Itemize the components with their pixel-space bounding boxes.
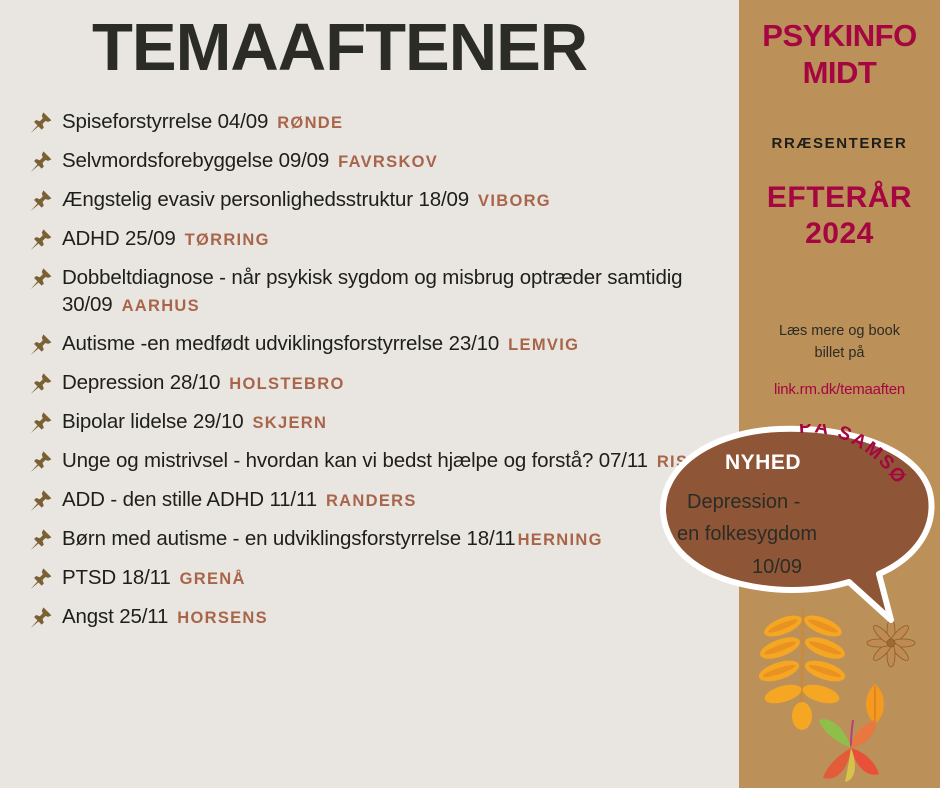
event-city: HOLSTEBRO [229,375,344,393]
event-title: Unge og mistrivsel - hvordan kan vi beds… [62,447,740,474]
event-city: LEMVIG [508,336,579,354]
event-city: GRENÅ [180,570,246,588]
pushpin-icon [28,488,54,514]
news-line-3: 10/09 [667,551,913,583]
event-row: PTSD 18/11GRENÅ [28,564,744,592]
event-city: SKJERN [252,414,327,432]
booking-link[interactable]: link.rm.dk/temaaften [739,381,940,398]
news-badge: NYHED [725,451,801,475]
event-row: Selvmordsforebyggelse 09/09FAVRSKOV [28,147,744,175]
pushpin-icon [28,266,54,292]
page-title: TEMAAFTENER [92,14,587,81]
event-row: ADD - den stille ADHD 11/11RANDERS [28,486,744,514]
event-city: RANDERS [326,492,417,510]
event-title: Ængstelig evasiv personlighedsstruktur 1… [62,186,551,213]
sidebar-panel: PSYKINFO MIDT RRÆSENTERER EFTERÅR 2024 L… [739,0,940,788]
event-title: Dobbeltdiagnose - når psykisk sygdom og … [62,264,744,319]
season-block: EFTERÅR 2024 [739,180,940,252]
event-city: HORSENS [177,609,268,627]
brand-line-2: MIDT [739,55,940,92]
event-row: Bipolar lidelse 29/10SKJERN [28,408,744,436]
event-title: ADD - den stille ADHD 11/11RANDERS [62,486,417,513]
event-city: VIBORG [478,192,551,210]
event-title: Børn med autisme - en udviklingsforstyrr… [62,525,603,552]
event-title: Angst 25/11HORSENS [62,603,268,630]
season-line-2: 2024 [739,216,940,252]
event-row: ADHD 25/09TØRRING [28,225,744,253]
poster-canvas: TEMAAFTENER Spiseforstyrrelse 04/09RØNDE… [0,0,940,788]
pushpin-icon [28,227,54,253]
event-title: Selvmordsforebyggelse 09/09FAVRSKOV [62,147,438,174]
event-city: TØRRING [185,231,270,249]
pushpin-icon [28,566,54,592]
event-title: Autisme -en medfødt udviklingsforstyrrel… [62,330,579,357]
pushpin-icon [28,371,54,397]
event-title: PTSD 18/11GRENÅ [62,564,246,591]
news-speech-bubble: NYHED Depression - en folkesygdom 10/09 … [653,424,940,644]
pushpin-icon [28,188,54,214]
news-line-2: en folkesygdom [667,518,913,550]
event-row: Depression 28/10HOLSTEBRO [28,369,744,397]
event-list: Spiseforstyrrelse 04/09RØNDESelvmordsfor… [28,108,744,642]
event-row: Unge og mistrivsel - hvordan kan vi beds… [28,447,744,475]
event-row: Angst 25/11HORSENS [28,603,744,631]
pushpin-icon [28,149,54,175]
pushpin-icon [28,332,54,358]
news-bubble-text: Depression - en folkesygdom 10/09 [667,486,913,583]
season-line-1: EFTERÅR [739,180,940,216]
event-row: Autisme -en medfødt udviklingsforstyrrel… [28,330,744,358]
event-city: FAVRSKOV [338,153,438,171]
pushpin-icon [28,527,54,553]
event-title: Spiseforstyrrelse 04/09RØNDE [62,108,343,135]
event-city: RØNDE [277,114,343,132]
event-row: Børn med autisme - en udviklingsforstyrr… [28,525,744,553]
brand-line-1: PSYKINFO [739,18,940,55]
event-title: Depression 28/10HOLSTEBRO [62,369,345,396]
presenter-label: RRÆSENTERER [739,135,940,152]
event-city: AARHUS [122,297,200,315]
pushpin-icon [28,449,54,475]
booking-note: Læs mere og book billet på [739,320,940,365]
event-row: Spiseforstyrrelse 04/09RØNDE [28,108,744,136]
pushpin-icon [28,410,54,436]
brand-block: PSYKINFO MIDT [739,18,940,91]
event-city: HERNING [518,531,603,549]
event-row: Ængstelig evasiv personlighedsstruktur 1… [28,186,744,214]
event-title: ADHD 25/09TØRRING [62,225,270,252]
event-row: Dobbeltdiagnose - når psykisk sygdom og … [28,264,744,319]
pushpin-icon [28,110,54,136]
event-title: Bipolar lidelse 29/10SKJERN [62,408,327,435]
pushpin-icon [28,605,54,631]
booking-note-line-1: Læs mere og book [739,320,940,342]
booking-note-line-2: billet på [739,342,940,364]
news-line-1: Depression - [667,486,913,518]
